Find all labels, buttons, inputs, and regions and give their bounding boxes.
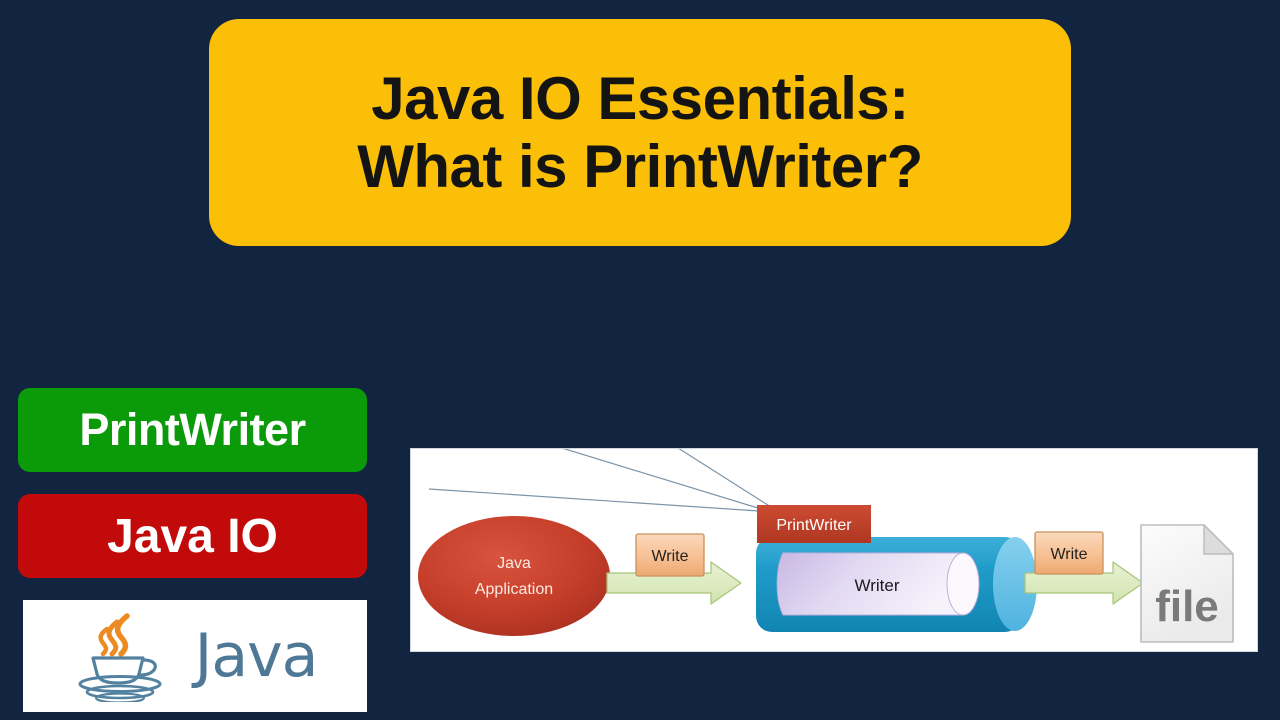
java-logo-panel: Java (23, 600, 367, 712)
writer-cylinder-label: Writer (854, 576, 899, 595)
file-icon-label: file (1155, 582, 1219, 631)
badge-printwriter: PrintWriter (18, 388, 367, 472)
write-label-box-1: Write (636, 534, 704, 576)
title-line-1: Java IO Essentials: (371, 65, 908, 132)
write-label-1: Write (651, 548, 688, 565)
diagram-panel: Java Application Write Writer PrintWrite… (410, 448, 1258, 652)
file-icon: file (1141, 525, 1233, 642)
writer-cylinder: Writer (756, 537, 1037, 632)
java-cup-icon (73, 610, 177, 702)
printwriter-callout-label: PrintWriter (776, 517, 852, 534)
badge-java-io-label: Java IO (107, 509, 278, 564)
badge-java-io: Java IO (18, 494, 367, 578)
title-banner: Java IO Essentials: What is PrintWriter? (209, 19, 1071, 246)
java-application-label-line1: Java (497, 555, 531, 572)
badge-printwriter-label: PrintWriter (79, 404, 305, 456)
write-label-box-2: Write (1035, 532, 1103, 574)
callout-connector-lines (429, 449, 771, 511)
write-label-2: Write (1050, 546, 1087, 563)
printwriter-flow-diagram: Java Application Write Writer PrintWrite… (411, 449, 1258, 652)
java-wordmark: Java (195, 626, 318, 686)
printwriter-callout: PrintWriter (757, 505, 871, 543)
title-line-2: What is PrintWriter? (357, 133, 923, 200)
java-application-node: Java Application (418, 516, 610, 636)
java-application-label-line2: Application (475, 581, 553, 598)
